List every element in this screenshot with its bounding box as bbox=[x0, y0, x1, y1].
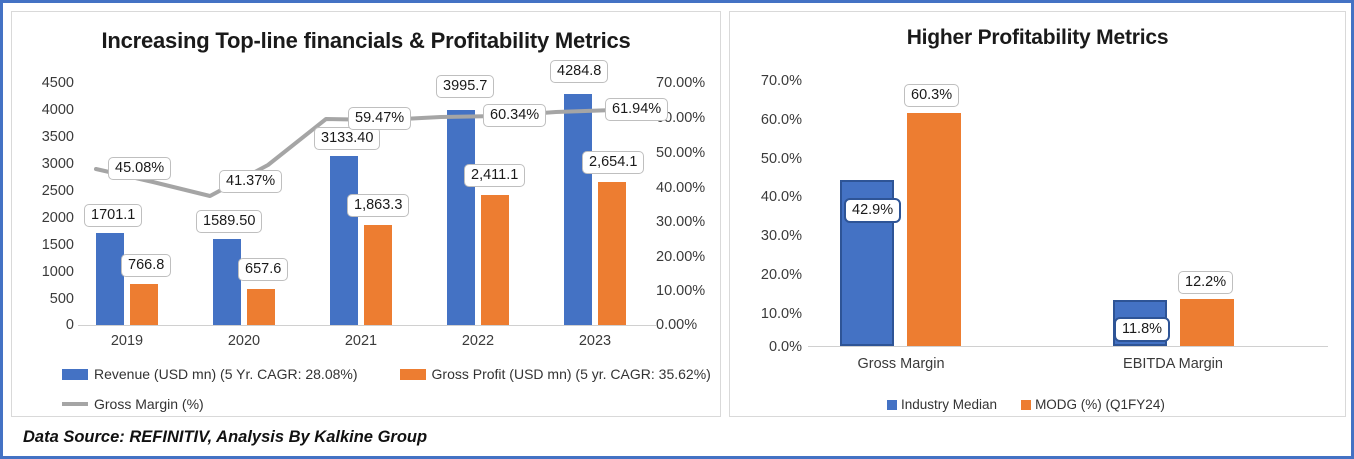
left-y2tick-40: 40.00% bbox=[656, 181, 705, 196]
left-ytick-4500: 4500 bbox=[26, 76, 74, 91]
legend-label-industry-median: Industry Median bbox=[901, 397, 997, 412]
right-ytick-50: 50.0% bbox=[734, 152, 802, 167]
legend-item-industry-median[interactable]: Industry Median bbox=[887, 397, 997, 412]
legend-swatch-blue-icon bbox=[62, 369, 88, 380]
left-y2tick-50: 50.00% bbox=[656, 146, 705, 161]
right-ytick-0: 0.0% bbox=[734, 340, 802, 355]
left-ytick-4000: 4000 bbox=[26, 103, 74, 118]
left-ytick-1500: 1500 bbox=[26, 238, 74, 253]
label-modg-ebitda-margin: 12.2% bbox=[1178, 271, 1233, 294]
label-gross-margin-2022: 60.34% bbox=[483, 104, 546, 127]
legend-item-gross-profit[interactable]: Gross Profit (USD mn) (5 yr. CAGR: 35.62… bbox=[400, 366, 711, 382]
left-chart-title: Increasing Top-line financials & Profita… bbox=[12, 28, 720, 54]
right-ytick-30: 30.0% bbox=[734, 229, 802, 244]
bar-modg-gross-margin bbox=[907, 113, 961, 346]
chart-panel-left: Increasing Top-line financials & Profita… bbox=[11, 11, 721, 417]
bar-gross-profit-2019 bbox=[130, 284, 158, 325]
label-revenue-2019: 1701.1 bbox=[84, 204, 142, 227]
legend-item-revenue[interactable]: Revenue (USD mn) (5 Yr. CAGR: 28.08%) bbox=[62, 366, 358, 382]
right-legend-row: Industry Median MODG (%) (Q1FY24) bbox=[887, 397, 1165, 412]
left-legend-row-2: Gross Margin (%) bbox=[62, 396, 204, 412]
label-gross-profit-2022: 2,411.1 bbox=[464, 164, 525, 187]
left-y2tick-20: 20.00% bbox=[656, 250, 705, 265]
bar-revenue-2020 bbox=[213, 239, 241, 325]
label-gross-profit-2019: 766.8 bbox=[121, 254, 171, 277]
data-source-text: Data Source: REFINITIV, Analysis By Kalk… bbox=[11, 428, 427, 447]
label-industry-median-gross-margin: 42.9% bbox=[844, 198, 901, 223]
label-revenue-2023: 4284.8 bbox=[550, 60, 608, 83]
left-xtick-2021: 2021 bbox=[319, 333, 403, 349]
left-xtick-2023: 2023 bbox=[553, 333, 637, 349]
right-xtick-ebitda-margin: EBITDA Margin bbox=[1113, 356, 1233, 372]
left-ytick-3500: 3500 bbox=[26, 130, 74, 145]
label-gross-profit-2020: 657.6 bbox=[238, 258, 288, 281]
bar-gross-profit-2023 bbox=[598, 182, 626, 325]
bar-revenue-2022 bbox=[447, 110, 475, 325]
bar-revenue-2021 bbox=[330, 156, 358, 325]
bar-revenue-2023 bbox=[564, 94, 592, 325]
legend-label-revenue: Revenue (USD mn) (5 Yr. CAGR: 28.08%) bbox=[94, 366, 358, 382]
legend-item-gross-margin[interactable]: Gross Margin (%) bbox=[62, 396, 204, 412]
chart-panel-right: Higher Profitability Metrics 70.0% 60.0%… bbox=[729, 11, 1346, 417]
left-ytick-500: 500 bbox=[26, 292, 74, 307]
left-ytick-2500: 2500 bbox=[26, 184, 74, 199]
left-xtick-2022: 2022 bbox=[436, 333, 520, 349]
right-ytick-20: 20.0% bbox=[734, 268, 802, 283]
left-ytick-2000: 2000 bbox=[26, 211, 74, 226]
legend-item-modg[interactable]: MODG (%) (Q1FY24) bbox=[1021, 397, 1165, 412]
right-ytick-40: 40.0% bbox=[734, 190, 802, 205]
right-axis-baseline bbox=[808, 346, 1328, 347]
legend-swatch-orange-icon bbox=[400, 369, 426, 380]
left-xtick-2020: 2020 bbox=[202, 333, 286, 349]
label-revenue-2021: 3133.40 bbox=[314, 127, 380, 150]
left-legend-row-1: Revenue (USD mn) (5 Yr. CAGR: 28.08%) Gr… bbox=[62, 366, 711, 382]
left-y2tick-30: 30.00% bbox=[656, 215, 705, 230]
label-industry-median-ebitda-margin: 11.8% bbox=[1114, 317, 1170, 342]
right-chart-title: Higher Profitability Metrics bbox=[730, 26, 1345, 50]
bar-gross-profit-2022 bbox=[481, 195, 509, 325]
label-gross-margin-2021: 59.47% bbox=[348, 107, 411, 130]
label-gross-margin-2023: 61.94% bbox=[605, 98, 668, 121]
legend-label-modg: MODG (%) (Q1FY24) bbox=[1035, 397, 1165, 412]
bar-gross-profit-2020 bbox=[247, 289, 275, 325]
left-axis-baseline bbox=[78, 325, 656, 326]
label-gross-margin-2020: 41.37% bbox=[219, 170, 282, 193]
footer-bar: Data Source: REFINITIV, Analysis By Kalk… bbox=[11, 421, 1341, 453]
left-ytick-1000: 1000 bbox=[26, 265, 74, 280]
legend-label-gross-margin: Gross Margin (%) bbox=[94, 396, 204, 412]
legend-label-gross-profit: Gross Profit (USD mn) (5 yr. CAGR: 35.62… bbox=[432, 366, 711, 382]
left-ytick-0: 0 bbox=[26, 318, 74, 333]
bar-modg-ebitda-margin bbox=[1180, 299, 1234, 346]
right-xtick-gross-margin: Gross Margin bbox=[841, 356, 961, 372]
right-ytick-10: 10.0% bbox=[734, 307, 802, 322]
label-revenue-2020: 1589.50 bbox=[196, 210, 262, 233]
bar-revenue-2019 bbox=[96, 233, 124, 325]
left-xtick-2019: 2019 bbox=[85, 333, 169, 349]
left-y2tick-10: 10.00% bbox=[656, 284, 705, 299]
right-ytick-70: 70.0% bbox=[734, 74, 802, 89]
left-y2tick-0: 0.00% bbox=[656, 318, 697, 333]
right-ytick-60: 60.0% bbox=[734, 113, 802, 128]
label-revenue-2022: 3995.7 bbox=[436, 75, 494, 98]
bar-gross-profit-2021 bbox=[364, 225, 392, 325]
legend-swatch-orange-small-icon bbox=[1021, 400, 1031, 410]
figure-frame: Increasing Top-line financials & Profita… bbox=[0, 0, 1354, 459]
label-gross-margin-2019: 45.08% bbox=[108, 157, 171, 180]
label-gross-profit-2021: 1,863.3 bbox=[347, 194, 409, 217]
left-y2tick-70: 70.00% bbox=[656, 76, 705, 91]
left-ytick-3000: 3000 bbox=[26, 157, 74, 172]
label-gross-profit-2023: 2,654.1 bbox=[582, 151, 644, 174]
label-modg-gross-margin: 60.3% bbox=[904, 84, 959, 107]
legend-swatch-blue-small-icon bbox=[887, 400, 897, 410]
legend-swatch-gray-line-icon bbox=[62, 402, 88, 406]
